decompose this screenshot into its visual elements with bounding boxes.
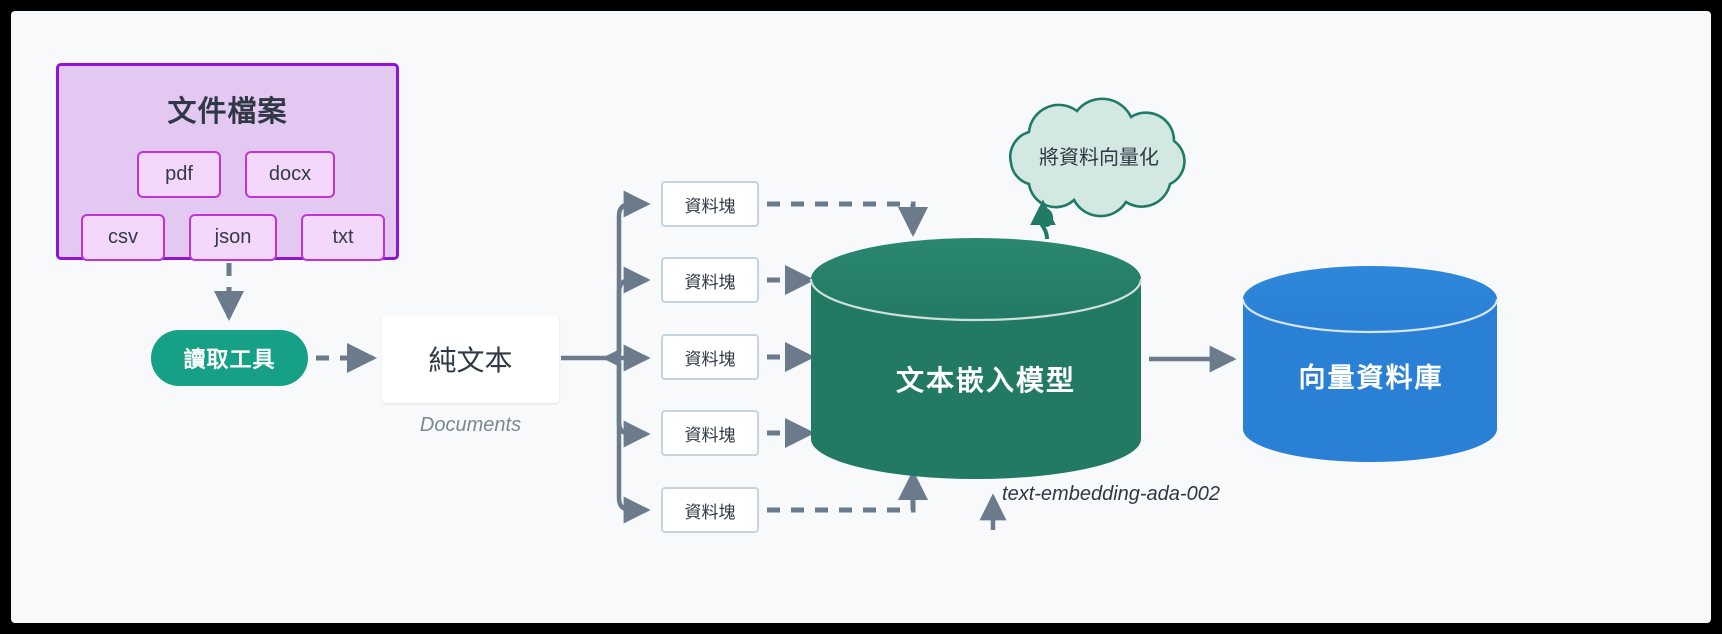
- edge-embedding-to-cloud: [1039, 203, 1051, 239]
- vector-db-label: 向量資料庫: [1241, 356, 1501, 395]
- format-chip-txt[interactable]: txt: [301, 214, 385, 261]
- chunk-node[interactable]: 資料塊: [661, 410, 759, 456]
- format-chip-docx[interactable]: docx: [245, 151, 335, 198]
- reader-tool-node[interactable]: 讀取工具: [151, 330, 308, 386]
- documents-title: 文件檔案: [59, 88, 396, 130]
- edge-plaintext-to-chunks: [561, 204, 647, 510]
- cloud-label: 將資料向量化: [1001, 141, 1197, 170]
- embedding-model-caption: text-embedding-ada-002: [946, 483, 1276, 506]
- edge-chunk-0-to-embedding: [767, 204, 913, 233]
- format-chip-pdf[interactable]: pdf: [137, 151, 221, 198]
- chunk-node[interactable]: 資料塊: [661, 334, 759, 380]
- format-chip-json[interactable]: json: [189, 214, 277, 261]
- chunk-node[interactable]: 資料塊: [661, 257, 759, 303]
- documents-group-box: 文件檔案 pdf docx csv json txt: [56, 63, 399, 260]
- plain-text-node[interactable]: 純文本: [382, 315, 559, 403]
- chunk-node[interactable]: 資料塊: [661, 487, 759, 533]
- embedding-model-label: 文本嵌入模型: [821, 359, 1151, 399]
- format-chip-csv[interactable]: csv: [81, 214, 165, 261]
- plain-text-caption: Documents: [382, 414, 559, 437]
- diagram-canvas-frame: 文件檔案 pdf docx csv json txt 讀取工具 純文本 Docu…: [0, 0, 1722, 634]
- edge-chunk-4-to-embedding: [767, 474, 913, 510]
- diagram-canvas: 文件檔案 pdf docx csv json txt 讀取工具 純文本 Docu…: [11, 11, 1711, 623]
- chunk-node[interactable]: 資料塊: [661, 181, 759, 227]
